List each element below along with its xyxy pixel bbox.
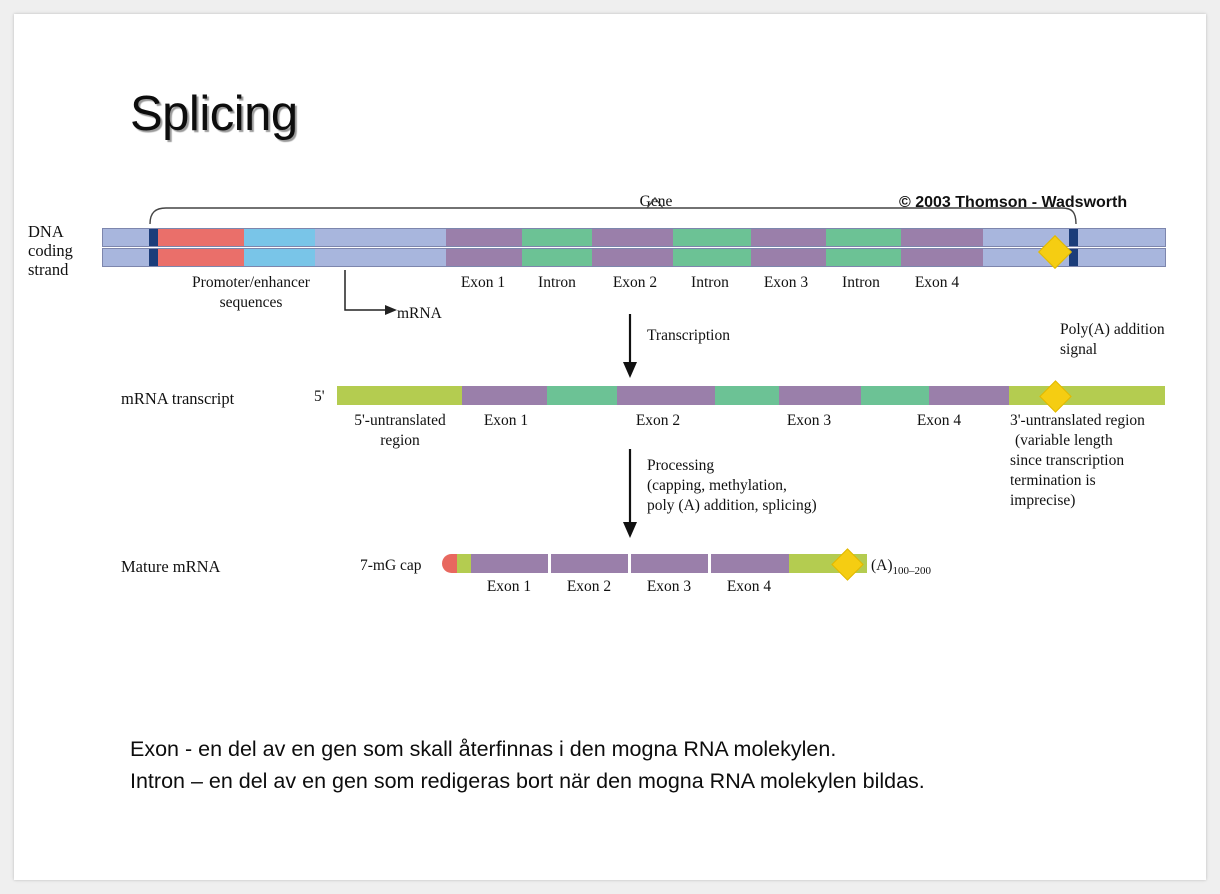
transcript-seg-intron2 [715,386,779,405]
dna-strand-bottom [102,248,1166,267]
note-intron-definition: Intron – en del av en gen som redigeras … [130,769,925,794]
transcript-seg-exon4 [929,386,1009,405]
transcript-seg-utr3 [1009,386,1165,405]
cap-label: 7-mG cap [360,557,422,575]
dna-seglabel-intron2: Intron [671,274,749,292]
dna-seg-exon4 [901,229,983,246]
mature-seg-cap-utr [457,554,471,573]
note-exon-definition: Exon - en del av en gen som skall återfi… [130,737,836,762]
transcript-row-label: mRNA transcript [121,389,234,409]
dna-seg-exon3 [751,229,826,246]
dna-seg-exon1-b [446,249,522,266]
dna-seg-leader [315,229,446,246]
dna-seg-intron3 [826,229,901,246]
dna-seg-exon2 [592,229,673,246]
dna-seglabel-exon3: Exon 3 [747,274,825,292]
transcript-exonlabel-4: Exon 4 [899,412,979,430]
processing-label-line3: poly (A) addition, splicing) [647,497,817,515]
dna-seg-exon1 [446,229,522,246]
dna-seglabel-intron3: Intron [822,274,900,292]
polya-tail-text: (A) [871,557,893,574]
utr5-label-line2: region [336,432,464,450]
utr5-label-line1: 5'-untranslated [336,412,464,430]
gene-bracket-label: Gene [610,193,702,211]
dna-label-line1: DNA [28,222,64,242]
mrna-start-label: mRNA [397,305,442,323]
polya-signal-label-line2: signal [1060,341,1097,359]
transcript-exonlabel-1: Exon 1 [466,412,546,430]
dna-seg-enhancer [244,229,315,246]
dna-seg-downstream [1078,229,1165,246]
dna-seglabel-exon1: Exon 1 [445,274,521,292]
dna-seg-exon3-b [751,249,826,266]
copyright-notice: © 2003 Thomson - Wadsworth [899,194,1127,212]
polya-tail-subscript: 100–200 [893,565,932,577]
mature-exonlabel-4: Exon 4 [711,578,787,596]
mrna-start-arrowhead [385,305,397,315]
mature-seg-exon2 [551,554,628,573]
dna-seg-leader-b [315,249,446,266]
transcript-seg-exon2 [617,386,715,405]
utr3-label-line4: termination is [1010,472,1096,490]
mature-seg-exon3 [631,554,708,573]
promoter-label-line1: Promoter/enhancer [157,274,345,292]
transcript-seg-intron1 [547,386,617,405]
transcript-exonlabel-3: Exon 3 [769,412,849,430]
dna-label-line3: strand [28,260,68,280]
dna-seg-exon4-b [901,249,983,266]
dna-seg-term-tick [1069,229,1078,246]
dna-seg-intron2-b [673,249,751,266]
processing-label-line2: (capping, methylation, [647,477,787,495]
dna-seg-promoter-b [158,249,244,266]
dna-seg-promoter [158,229,244,246]
dna-label-line2: coding [28,241,73,261]
dna-seg-tss-tick-b [149,249,158,266]
mature-exonlabel-3: Exon 3 [631,578,707,596]
dna-seg-tss-tick [149,229,158,246]
dna-seg-upstream [103,229,149,246]
dna-seg-intron2 [673,229,751,246]
dna-seg-intron1 [522,229,592,246]
utr3-label-line1: 3'-untranslated region [1010,412,1145,430]
dna-seglabel-intron1: Intron [518,274,596,292]
transcript-seg-exon3 [779,386,861,405]
mature-exonlabel-1: Exon 1 [471,578,547,596]
utr3-label-line2: (variable length [1015,432,1113,450]
dna-seg-exon2-b [592,249,673,266]
dna-seg-intron3-b [826,249,901,266]
polya-signal-label-line1: Poly(A) addition [1060,321,1165,339]
polya-tail-label: (A)100–200 [871,557,931,577]
utr3-label-line3: since transcription [1010,452,1124,470]
transcript-exonlabel-2: Exon 2 [618,412,698,430]
transcription-arrowhead [623,362,637,378]
transcription-arrow-label: Transcription [647,327,730,345]
promoter-label-line2: sequences [157,294,345,312]
mature-seg-exon1 [471,554,548,573]
dna-strand-top [102,228,1166,247]
transcript-seg-utr5 [337,386,462,405]
mature-mrna-bar [457,554,867,573]
processing-arrowhead [623,522,637,538]
slide-canvas: Splicing © 2003 Thomson - Wadsworth DNA … [14,14,1206,880]
mature-row-label: Mature mRNA [121,557,220,577]
dna-seglabel-exon4: Exon 4 [898,274,976,292]
transcript-seg-exon1 [462,386,547,405]
dna-seg-enhancer-b [244,249,315,266]
utr3-label-line5: imprecise) [1010,492,1075,510]
five-prime-label: 5' [314,388,325,406]
mature-seg-exon4 [711,554,789,573]
processing-label-line1: Processing [647,457,714,475]
transcript-seg-intron3 [861,386,929,405]
mature-exonlabel-2: Exon 2 [551,578,627,596]
dna-seg-downstream-b [1078,249,1165,266]
mrna-start-arrow-line [345,270,385,310]
dna-seg-intron1-b [522,249,592,266]
dna-seglabel-exon2: Exon 2 [596,274,674,292]
dna-seg-upstream-b [103,249,149,266]
